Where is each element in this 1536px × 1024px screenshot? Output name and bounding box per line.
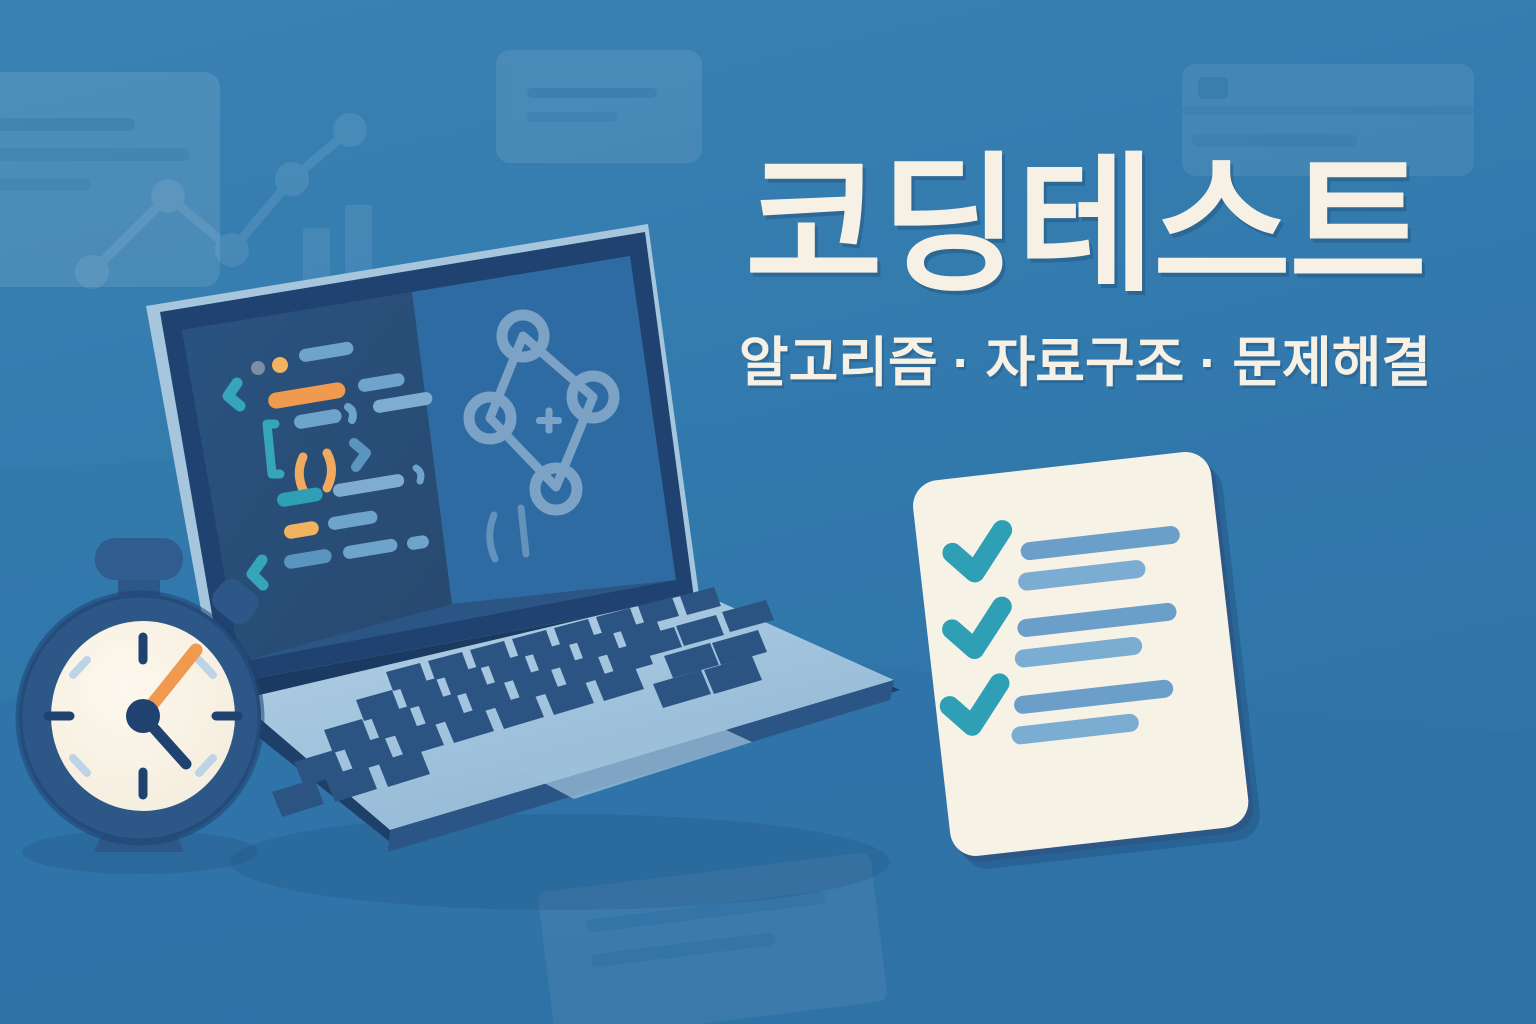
- banner-canvas: 코딩테스트 알고리즘 · 자료구조 · 문제해결: [0, 0, 1536, 1024]
- checklist-card: [0, 0, 1536, 1024]
